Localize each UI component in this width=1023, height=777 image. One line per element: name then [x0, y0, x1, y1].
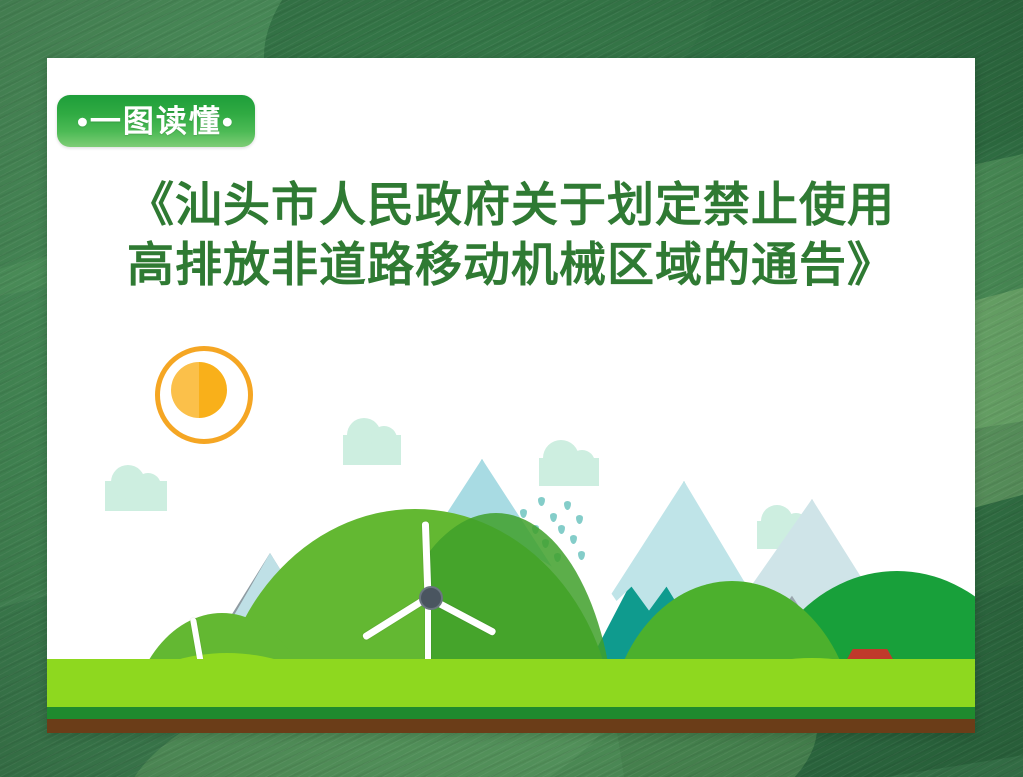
- ground-strip: [47, 707, 975, 719]
- sun-icon: [171, 362, 227, 418]
- read-at-a-glance-badge: •一图读懂•: [57, 95, 255, 147]
- eco-landscape-illustration: [47, 313, 975, 733]
- ground-grass: [47, 659, 975, 707]
- cloud-rain-icon: [539, 458, 599, 486]
- badge-label: •一图读懂•: [77, 106, 235, 137]
- page-title: 《汕头市人民政府关于划定禁止使用 高排放非道路移动机械区域的通告》: [47, 176, 975, 296]
- title-line-1: 《汕头市人民政府关于划定禁止使用: [71, 176, 951, 236]
- page-background: •一图读懂• 《汕头市人民政府关于划定禁止使用 高排放非道路移动机械区域的通告》: [0, 0, 1023, 777]
- title-line-2: 高排放非道路移动机械区域的通告》: [71, 236, 951, 296]
- cloud-mid-icon: [343, 435, 401, 465]
- cloud-left-icon: [105, 481, 167, 511]
- ground-soil: [47, 719, 975, 733]
- poster-card: •一图读懂• 《汕头市人民政府关于划定禁止使用 高排放非道路移动机械区域的通告》: [47, 58, 975, 733]
